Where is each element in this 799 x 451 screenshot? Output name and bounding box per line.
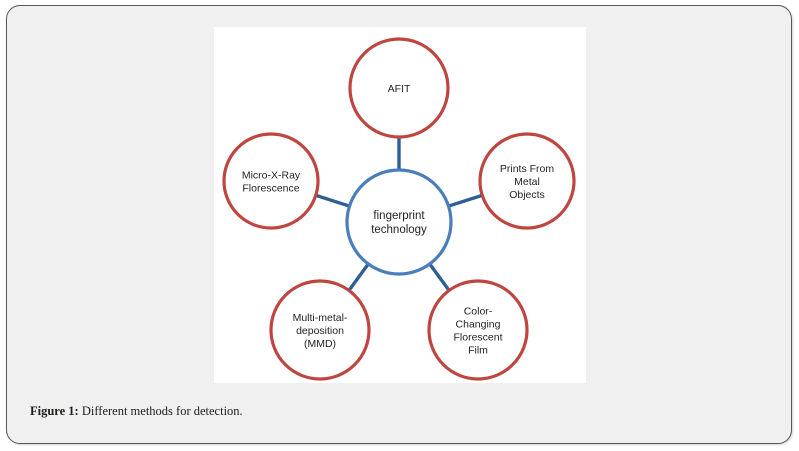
caption-label: Figure 1: (30, 404, 79, 418)
node-label-micro-x-ray-florescence: Micro-X-RayFlorescence (242, 170, 301, 195)
node-afit[interactable]: AFIT (350, 39, 448, 137)
node-color-changing-florescent-film[interactable]: Color-ChangingFlorescentFilm (429, 281, 527, 379)
caption-body: Different methods for detection. (82, 404, 243, 418)
nodes-group: AFITMicro-X-RayFlorescencePrints FromMet… (224, 39, 574, 379)
figure-caption: Figure 1: Different methods for detectio… (30, 404, 243, 419)
node-multi-metal-deposition-mmd[interactable]: Multi-metal-deposition(MMD) (271, 281, 369, 379)
connector-color-changing-florescent-film (429, 263, 450, 291)
caption-bar: Figure 1: Different methods for detectio… (7, 392, 792, 444)
diagram-panel: AFITMicro-X-RayFlorescencePrints FromMet… (214, 27, 586, 383)
node-fingerprint-technology[interactable]: fingerprinttechnology (347, 170, 451, 274)
connector-prints-from-metal-objects (448, 195, 484, 206)
connector-multi-metal-deposition-mmd (348, 263, 369, 291)
node-label-afit: AFIT (388, 83, 411, 95)
node-circle-fingerprint-technology (347, 170, 451, 274)
figure-card: AFITMicro-X-RayFlorescencePrints FromMet… (6, 5, 792, 444)
node-prints-from-metal-objects[interactable]: Prints FromMetalObjects (480, 134, 574, 228)
connector-micro-x-ray-florescence (315, 195, 351, 206)
node-micro-x-ray-florescence[interactable]: Micro-X-RayFlorescence (224, 134, 318, 228)
radial-diagram: AFITMicro-X-RayFlorescencePrints FromMet… (214, 27, 586, 383)
